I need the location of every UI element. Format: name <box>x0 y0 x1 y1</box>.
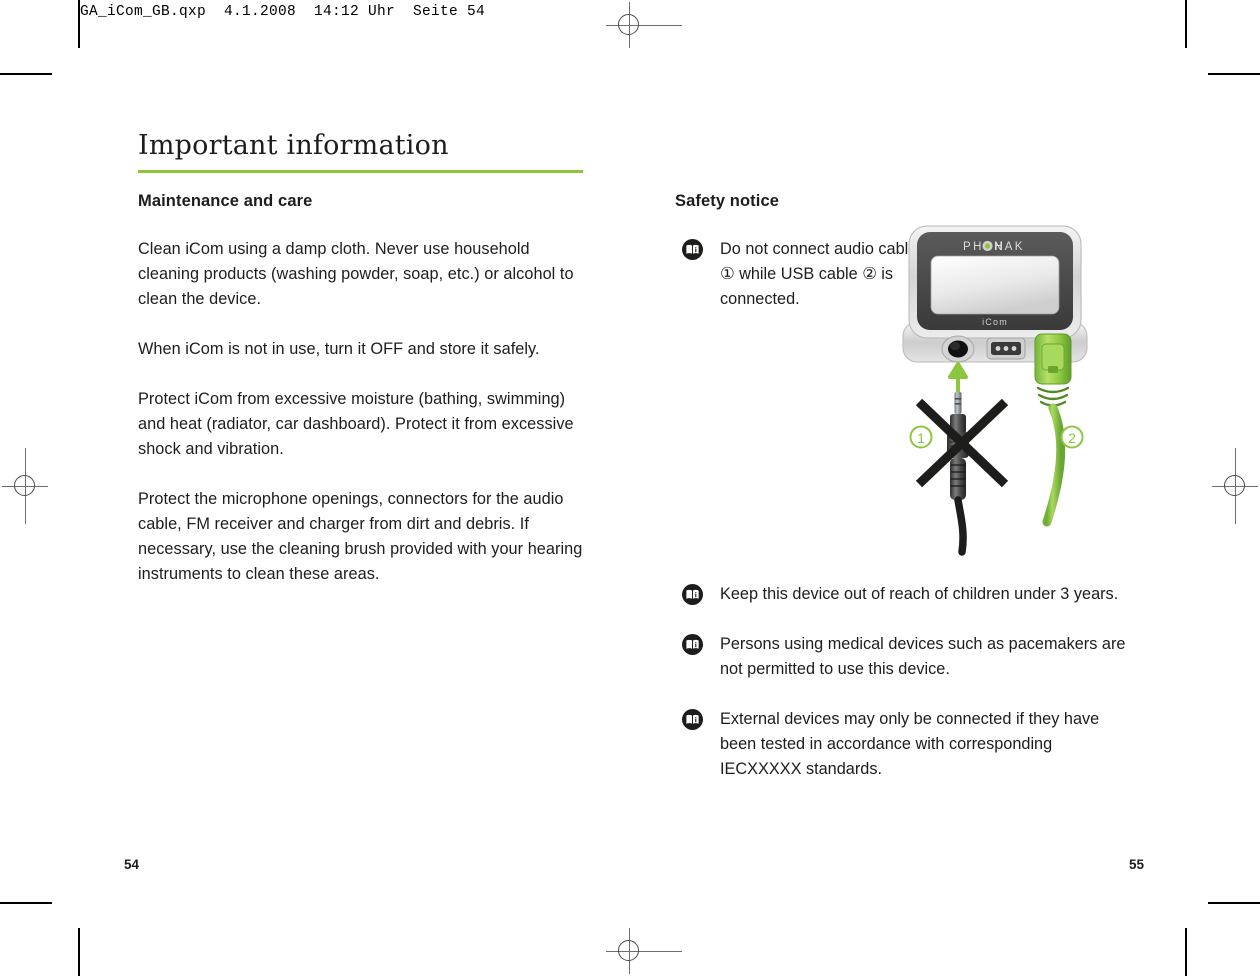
svg-text:1: 1 <box>917 430 925 446</box>
read-manual-icon <box>682 634 703 655</box>
svg-text:2: 2 <box>1068 430 1076 446</box>
safety-notice-text: Keep this device out of reach of childre… <box>720 582 1135 607</box>
safety-notice-text: Persons using medical devices such as pa… <box>720 632 1135 682</box>
maintenance-section-heading: Maintenance and care <box>138 192 586 211</box>
callout-usb-cable: 2 <box>1062 427 1083 448</box>
safety-notice-item: Keep this device out of reach of childre… <box>675 582 1135 607</box>
safety-notice-item: Persons using medical devices such as pa… <box>675 632 1135 682</box>
maintenance-paragraph-1: Clean iCom using a damp cloth. Never use… <box>138 237 586 312</box>
page-number-left: 54 <box>124 857 139 872</box>
safety-notice-text: External devices may only be connected i… <box>720 707 1135 782</box>
callout-audio-cable: 1 <box>911 427 932 448</box>
safety-notice-item: External devices may only be connected i… <box>675 707 1135 782</box>
left-column: Maintenance and care Clean iCom using a … <box>138 192 586 587</box>
svg-text:iCom: iCom <box>982 317 1008 327</box>
document-spread: Important information Maintenance and ca… <box>0 0 1260 976</box>
icom-connection-warning-illustration: PH PHONAK x PH NAK iCom <box>895 222 1095 562</box>
svg-text:NAK: NAK <box>994 241 1025 253</box>
title-underline-rule <box>138 170 583 173</box>
svg-text:PH: PH <box>963 241 984 253</box>
page-title: Important information <box>138 130 449 161</box>
maintenance-paragraph-4: Protect the microphone openings, connect… <box>138 487 586 587</box>
read-manual-icon <box>682 239 703 260</box>
maintenance-paragraph-3: Protect iCom from excessive moisture (ba… <box>138 387 586 462</box>
read-manual-icon <box>682 584 703 605</box>
page-number-right: 55 <box>1129 857 1144 872</box>
read-manual-icon <box>682 709 703 730</box>
safety-notice-heading: Safety notice <box>675 192 1135 211</box>
maintenance-paragraph-2: When iCom is not in use, turn it OFF and… <box>138 337 586 362</box>
